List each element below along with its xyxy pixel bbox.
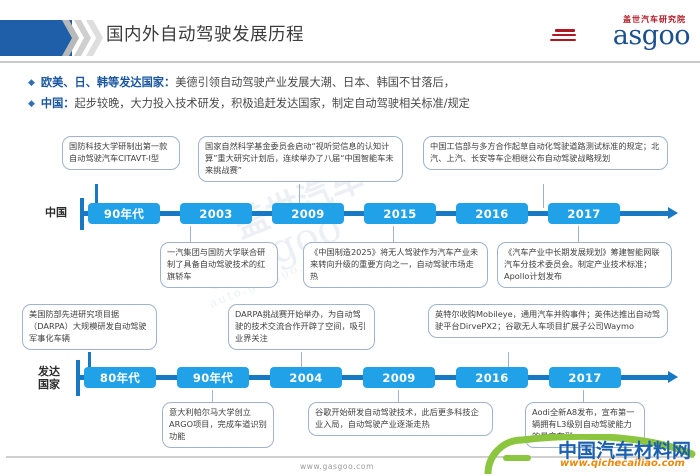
page-title: 国内外自动驾驶发展历程 — [106, 21, 304, 46]
qichecailiao-logo: 中国汽车材料网 www.qichecailiao.com — [480, 434, 696, 474]
year-chip-dev-4[interactable]: 2009 — [363, 367, 435, 388]
note-below-dev-2: 谷歌开始研发自动驾驶技术，此后更多科技企业入局，自动驾驶产业逐渐走热 — [308, 402, 493, 436]
slide-canvas: 国内外自动驾驶发展历程 盖世汽车研究院 asgoo ◆ 欧美、日、韩等发达国家：… — [0, 0, 700, 476]
note-above-china-1: 国防科技大学研制出第一款自动驾驶汽车CITAVT-I型 — [62, 136, 180, 170]
note-stem — [212, 390, 213, 402]
diamond-icon: ◆ — [28, 99, 35, 110]
year-chip-dev-2[interactable]: 90年代 — [177, 367, 249, 388]
axis-label-developed: 发达国家 — [26, 366, 72, 391]
year-chip-china-2[interactable]: 2003 — [180, 203, 252, 224]
note-stem — [398, 390, 399, 402]
note-above-dev-2: DARPA挑战赛开始举办，为自动驾驶的技术交流合作开辟了空间，吸引业界关注 — [228, 304, 375, 350]
gasgoo-logo: 盖世汽车研究院 asgoo — [550, 14, 690, 54]
year-chip-china-1[interactable]: 90年代 — [88, 203, 160, 224]
bullet-strong-text: 中国： — [41, 97, 75, 110]
slide-header: 国内外自动驾驶发展历程 盖世汽车研究院 asgoo — [0, 0, 700, 62]
axis-arrow-icon — [668, 371, 678, 383]
axis-label-line1: 发达 — [38, 365, 60, 378]
logo-bars-icon — [550, 29, 576, 46]
axis-label-line2: 国家 — [38, 378, 60, 391]
bullet-body-text: 起步较晚，大力投入技术研发，积极追赶发达国家，制定自动驾驶相关标准/规定 — [75, 97, 470, 110]
note-above-china-2: 国家自然科学基金委员会启动“视听觉信息的认知计算”重大研究计划后，连续举办了八届… — [198, 136, 403, 182]
year-chip-china-5[interactable]: 2016 — [456, 203, 528, 224]
year-chip-dev-3[interactable]: 2004 — [270, 367, 342, 388]
year-chip-dev-5[interactable]: 2016 — [456, 367, 528, 388]
logo-wordmark: asgoo — [613, 22, 690, 49]
bullet-list: ◆ 欧美、日、韩等发达国家：美德引领自动驾驶产业发展大潮、日本、韩国不甘落后， … — [28, 76, 678, 118]
site-logo-url: www.qichecailiao.com — [560, 458, 685, 469]
footer-url: www.gasgoo.com — [300, 462, 374, 471]
note-below-china-3: 《汽车产业中长期发展规划》筹建智能网联汽车分技术委员会。制定产业技术标准；Apo… — [497, 242, 672, 288]
note-stem — [578, 226, 579, 242]
year-chip-china-4[interactable]: 2015 — [364, 203, 436, 224]
bullet-item: ◆ 欧美、日、韩等发达国家：美德引领自动驾驶产业发展大潮、日本、韩国不甘落后， — [28, 76, 678, 90]
note-stem — [543, 184, 544, 208]
note-stem — [190, 226, 191, 242]
note-stem — [393, 226, 394, 242]
note-above-dev-3: 英特尔收购Mobileye，通用汽车并购事件；英伟达推出自动驾驶平台DirveP… — [428, 304, 668, 338]
note-below-china-2: 《中国制造2025》将无人驾驶作为汽车产业未来转向升级的重要方向之一，自动驾驶市… — [303, 242, 488, 288]
note-below-dev-1: 意大利帕尔马大学创立ARGO项目，完成车道识别功能 — [162, 402, 274, 448]
diamond-icon: ◆ — [28, 78, 35, 89]
year-chip-china-6[interactable]: 2017 — [548, 203, 620, 224]
bullet-body-text: 美德引领自动驾驶产业发展大潮、日本、韩国不甘落后， — [175, 76, 455, 89]
axis-label-china: 中国 — [36, 207, 76, 220]
note-above-china-3: 中国工信部与多方合作起草自动化驾驶道路测试标准的规定；北汽、上汽、长安等车企相继… — [423, 136, 668, 170]
axis-arrow-icon — [668, 207, 678, 219]
year-chip-china-3[interactable]: 2009 — [272, 203, 344, 224]
note-stem — [583, 390, 584, 402]
bullet-item: ◆ 中国：起步较晚，大力投入技术研发，积极追赶发达国家，制定自动驾驶相关标准/规… — [28, 97, 678, 111]
bullet-strong-text: 欧美、日、韩等发达国家： — [41, 76, 175, 89]
year-chip-dev-6[interactable]: 2017 — [549, 367, 621, 388]
year-chip-dev-1[interactable]: 80年代 — [84, 367, 156, 388]
note-above-dev-1: 美国防部先进研究项目据（DARPA）大规模研发自动驾驶军事化车辆 — [22, 304, 157, 350]
note-below-china-1: 一汽集团与国防大学联合研制了具备自动驾驶技术的红旗轿车 — [160, 242, 278, 288]
chevron-icon-3 — [86, 20, 103, 56]
header-divider — [0, 61, 700, 63]
